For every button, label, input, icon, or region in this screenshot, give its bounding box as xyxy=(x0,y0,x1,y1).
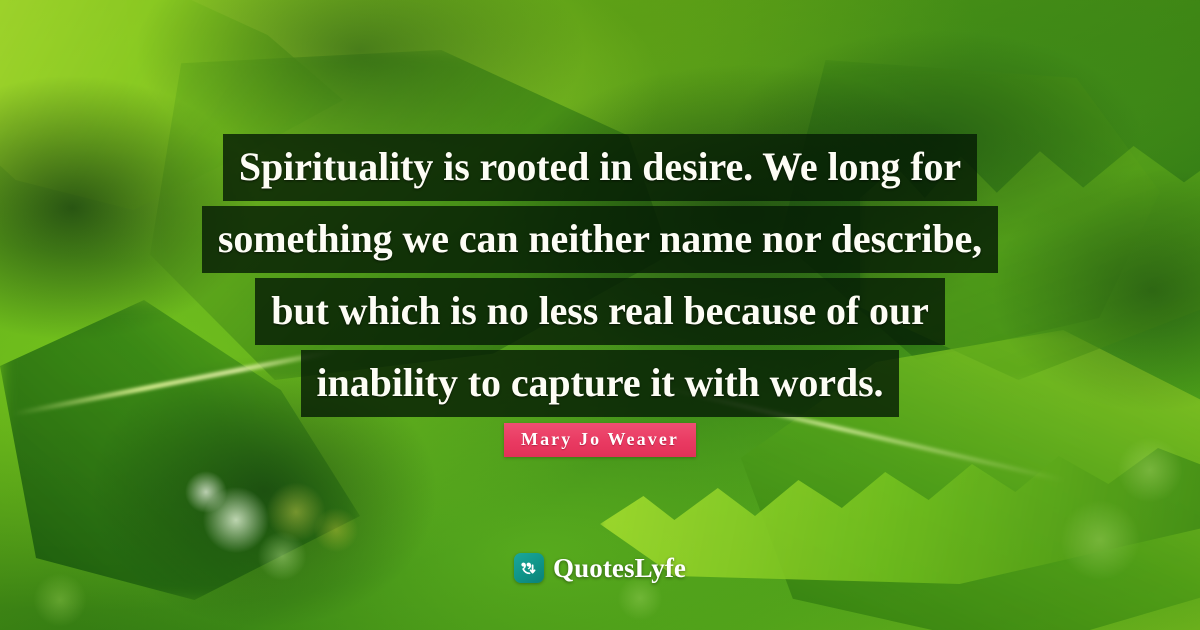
quote-line: Spirituality is rooted in desire. We lon… xyxy=(223,134,977,201)
quote-line: but which is no less real because of our xyxy=(255,278,945,345)
quote-line: inability to capture it with words. xyxy=(301,350,900,417)
author-name-badge: Mary Jo Weaver xyxy=(504,423,696,457)
quote-text-block: Spirituality is rooted in desire. We lon… xyxy=(0,134,1200,417)
quote-card: Spirituality is rooted in desire. We lon… xyxy=(0,0,1200,630)
site-branding: QuotesLyfe xyxy=(0,553,1200,583)
quote-marks-icon xyxy=(514,553,544,583)
author-attribution: Mary Jo Weaver xyxy=(0,423,1200,457)
quote-line: something we can neither name nor descri… xyxy=(202,206,998,273)
site-name: QuotesLyfe xyxy=(553,555,686,582)
